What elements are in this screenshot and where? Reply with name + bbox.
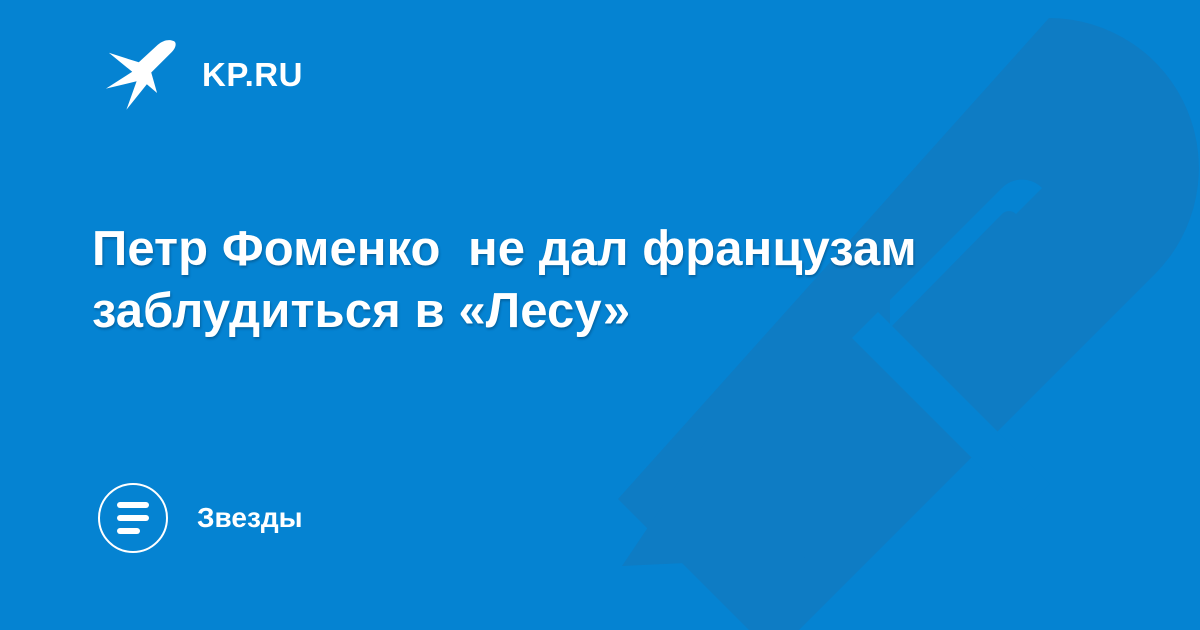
share-card: KP.RU Петр Фоменко не дал французам забл… <box>0 0 1200 630</box>
hamburger-line <box>117 528 140 534</box>
hamburger-line <box>117 515 149 521</box>
swallow-bird-icon <box>104 36 178 112</box>
brand-name: KP.RU <box>202 58 303 91</box>
hamburger-line <box>117 502 149 508</box>
rubric[interactable]: Звезды <box>98 482 303 554</box>
page-title: Петр Фоменко не дал французам заблудитьс… <box>92 218 1102 342</box>
hamburger-lines-icon <box>98 483 168 553</box>
brand-lockup[interactable]: KP.RU <box>104 38 303 110</box>
rubric-label: Звезды <box>197 504 303 532</box>
